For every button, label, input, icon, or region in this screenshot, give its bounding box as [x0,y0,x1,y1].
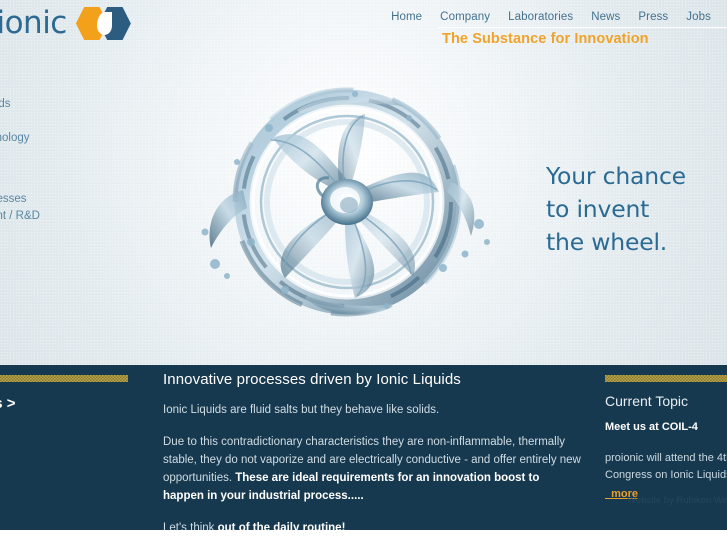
sidebar-item-solutions-1[interactable]: c in a few Seconds [0,96,114,113]
divider-dotted-right [605,375,727,382]
sidebar-item-thinking-1[interactable]: r Individual Processes [0,191,114,208]
hero-claim: Your chance to invent the wheel. [546,160,686,259]
sidebar-item-liquid-1[interactable]: quids [0,286,114,303]
hero-section: oionic Home Company Laboratories News Pr… [0,0,727,365]
sidebar-item-liquid-2[interactable]: es [0,303,114,320]
sidebar-group-heading: Thinking [0,166,114,184]
current-topic-subtitle: Meet us at COIL-4 [605,421,727,433]
nav-item-press[interactable]: Press [638,11,668,23]
sidebar-item-solutions-3[interactable]: ns for your Technology [0,130,114,147]
top-navigation: Home Company Laboratories News Press Job… [391,11,711,23]
current-topic-title: Current Topic [605,393,727,409]
nav-item-laboratories[interactable]: Laboratories [508,11,573,23]
current-topic-body-line-1: proionic will attend the 4th [605,450,727,467]
sidebar-group-thinking: Thinking r Individual Processes logy Dev… [0,166,114,242]
double-hexagon-droplet-logo-icon [76,3,132,43]
lower-dark-section: ences > Innovative processes driven by I… [0,365,727,530]
main-paragraph-3: Let's think out of the daily routine! [163,519,583,530]
current-topic-body: proionic will attend the 4th Congress on… [605,450,727,484]
main-paragraph-2: Due to this contradictionary characteris… [163,433,583,505]
main-paragraph-3-regular: Let's think [163,522,218,530]
main-content-title: Innovative processes driven by Ionic Liq… [163,371,583,388]
main-paragraph-1: Ionic Liquids are fluid salts but they b… [163,401,583,419]
current-topic-panel: Current Topic Meet us at COIL-4 proionic… [605,393,727,502]
sidebar-group-heading: Solutions [0,71,114,89]
page-bottom-filler [0,530,727,545]
sidebar-item-liquid-3[interactable]: ations [0,320,114,337]
brand-tagline: The Substance for Innovation [442,31,649,47]
nav-item-news[interactable]: News [591,11,620,23]
references-link[interactable]: ences > [0,395,15,412]
sidebar-group-liquid: nt Liquid quids es ations f Ionic Liquid… [0,261,114,354]
hero-claim-line-1: Your chance [546,160,686,193]
sidebar-group-heading: nt Liquid [0,261,114,279]
nav-item-jobs[interactable]: Jobs [686,11,711,23]
main-content-column: Innovative processes driven by Ionic Liq… [163,371,583,530]
nav-item-home[interactable]: Home [391,11,422,23]
logo-wordmark: oionic [0,5,67,41]
references-column: ences > [0,395,135,413]
site-credit: Website by Rubikon We [627,495,727,506]
sidebar-item-liquid-4[interactable]: f Ionic Liquids [0,337,114,354]
nav-item-company[interactable]: Company [440,11,490,23]
hero-claim-line-2: to invent [546,193,686,226]
sidebar-item-thinking-2[interactable]: logy Development / R&D [0,208,114,225]
sidebar-item-solutions-2[interactable]: s Opportunities [0,113,114,130]
divider-dotted-left [0,375,128,382]
page-root: oionic Home Company Laboratories News Pr… [0,0,727,545]
water-splash-wheel-photo [175,52,520,352]
main-paragraph-3-bold: out of the daily routine! [218,522,346,530]
sidebar-item-thinking-3[interactable]: o“ Engineering [0,225,114,242]
left-sidebar: Solutions c in a few Seconds s Opportuni… [0,71,114,365]
sidebar-group-solutions: Solutions c in a few Seconds s Opportuni… [0,71,114,147]
site-logo[interactable]: oionic [0,3,132,43]
current-topic-body-line-2: Congress on Ionic Liquids [605,467,727,484]
hero-claim-line-3: the wheel. [546,226,686,259]
nav-divider [438,27,727,28]
droplet-icon [97,12,112,35]
